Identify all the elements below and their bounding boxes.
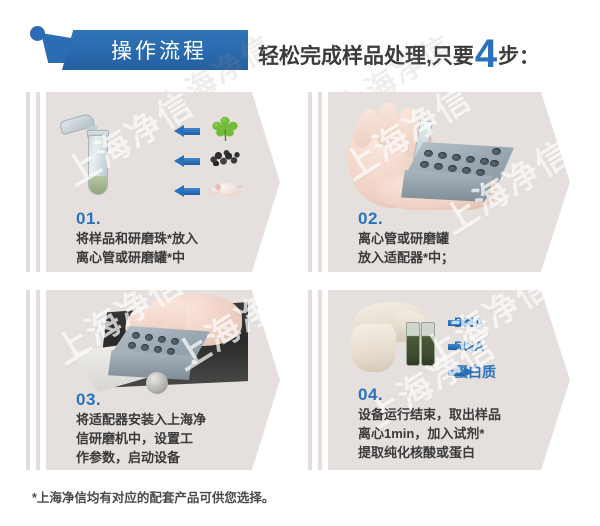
card-body: 上海净信 上海净信 03. 将适配器安装入上海净 信研磨机中，设置工 作参数，启…	[46, 290, 280, 470]
step-card-01: 上海净信 01. 将样品和研磨珠*放入 离心管或研磨罐*中	[26, 92, 280, 272]
tagline-colon: ：	[519, 40, 539, 69]
step-number: 03.	[76, 390, 101, 410]
step-number: 04.	[358, 385, 383, 405]
right-arrow-icon	[448, 341, 474, 352]
photo-hand-holding-adapter	[346, 98, 516, 210]
card-body: DNA RNA 蛋白质 上海净信 上海净信 04. 设备运行结	[328, 290, 570, 470]
card-accent-bar	[36, 290, 40, 470]
step-number: 01.	[76, 209, 101, 229]
card-accent-bar	[26, 290, 30, 470]
card-body: 上海净信 01. 将样品和研磨珠*放入 离心管或研磨罐*中	[46, 92, 280, 272]
leaf-icon	[212, 116, 238, 142]
step-description: 离心管或研磨罐 放入适配器*中；	[358, 229, 558, 267]
card-accent-bar	[308, 290, 312, 470]
step-description: 设备运行结束，取出样品 离心1min，加入试剂* 提取纯化核酸或蛋白	[358, 405, 568, 462]
card-accent-bar	[318, 290, 322, 470]
step-number: 02.	[358, 209, 383, 229]
centrifuge-tube-icon	[84, 117, 112, 195]
card-accent-bar	[318, 92, 322, 272]
right-arrow-icon	[448, 317, 474, 328]
left-arrow-icon	[174, 155, 200, 167]
step-card-02: 上海净信 上海净信 02. 离心管或研磨罐 放入适配器*中；	[308, 92, 570, 272]
step-card-04: DNA RNA 蛋白质 上海净信 上海净信 04. 设备运行结	[308, 290, 570, 470]
header: 操作流程 轻松完成样品处理,只要 4 步 ：	[0, 0, 600, 82]
photo-installing-adapter	[70, 294, 250, 398]
footnote: *上海净信均有对应的配套产品可供您选择。	[32, 487, 274, 506]
output-row-protein: 蛋白质	[448, 362, 496, 382]
card-body: 上海净信 上海净信 02. 离心管或研磨罐 放入适配器*中；	[328, 92, 570, 272]
card-watermark: 上海净信	[54, 92, 202, 195]
left-arrow-icon	[174, 185, 200, 197]
left-arrow-icon	[174, 125, 200, 137]
step-description: 将样品和研磨珠*放入 离心管或研磨罐*中	[76, 229, 276, 267]
tagline-part2: 步	[498, 40, 519, 70]
card-accent-bar	[308, 92, 312, 272]
tagline-step-count: 4	[475, 34, 497, 74]
right-arrow-icon	[448, 367, 474, 378]
card-accent-bar	[26, 92, 30, 272]
infographic-page: 操作流程 轻松完成样品处理,只要 4 步 ： 上海净信 上海净信	[0, 0, 600, 526]
output-row-rna: RNA	[448, 338, 484, 354]
mouse-icon	[209, 180, 241, 198]
step-description: 将适配器安装入上海净 信研磨机中，设置工 作参数，启动设备	[76, 410, 276, 467]
card-accent-bar	[36, 92, 40, 272]
seeds-icon	[210, 150, 240, 166]
step-card-03: 上海净信 上海净信 03. 将适配器安装入上海净 信研磨机中，设置工 作参数，启…	[26, 290, 280, 470]
header-banner-label: 操作流程	[103, 35, 207, 65]
output-row-dna: DNA	[448, 314, 484, 330]
